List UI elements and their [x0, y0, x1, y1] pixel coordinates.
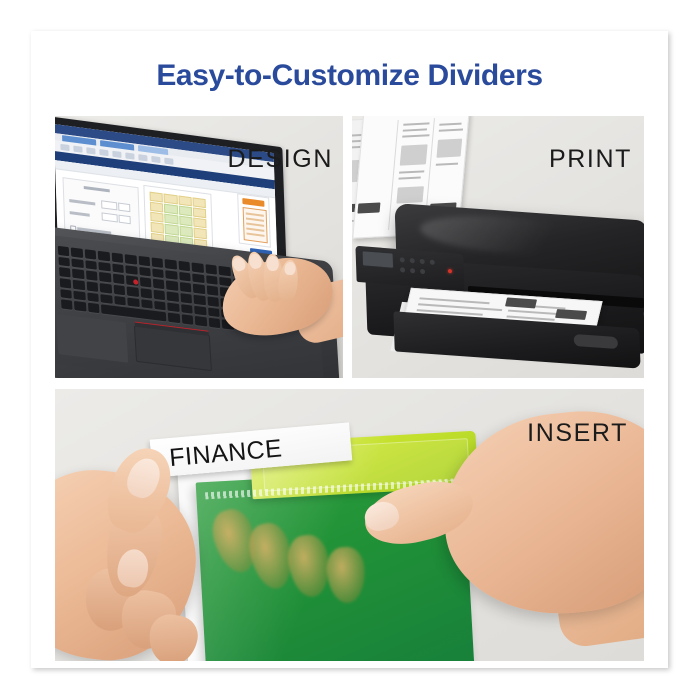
- form-label: [69, 199, 95, 205]
- panel-print: PRINT: [352, 116, 644, 378]
- panel-insert: FINANCE INSERT: [55, 389, 644, 661]
- trackpoint-nub: [133, 279, 138, 285]
- power-led-icon: [448, 269, 452, 273]
- page-title: Easy-to-Customize Dividers: [31, 59, 668, 93]
- thumbnail-document: [243, 207, 268, 243]
- hand-left-inserting: [55, 419, 275, 661]
- printer-button[interactable]: [420, 269, 425, 274]
- form-input: [102, 212, 118, 222]
- panel-label-insert: INSERT: [527, 419, 628, 448]
- panel-label-print: PRINT: [549, 145, 632, 174]
- form-input: [101, 200, 117, 210]
- thumbnail-header: [242, 198, 264, 207]
- printer-button[interactable]: [400, 257, 405, 262]
- printer-button[interactable]: [410, 258, 415, 263]
- tray-handle: [574, 334, 618, 349]
- template-thumbnail-panel: [237, 193, 271, 247]
- page-background: Easy-to-Customize Dividers: [0, 0, 700, 700]
- form-input: [119, 215, 131, 225]
- palm-rest: [56, 314, 128, 363]
- form-heading: [84, 186, 110, 192]
- printer-button[interactable]: [430, 260, 435, 265]
- form-label: [70, 211, 90, 217]
- printer-button[interactable]: [420, 259, 425, 264]
- hand-typing: [195, 254, 343, 358]
- panel-label-design: DESIGN: [228, 145, 333, 174]
- printer-button[interactable]: [400, 267, 405, 272]
- printer-lcd-display: [362, 250, 395, 269]
- printer-button[interactable]: [410, 268, 415, 273]
- form-input: [118, 203, 130, 213]
- product-card: Easy-to-Customize Dividers: [31, 31, 668, 668]
- panel-design: DESIGN: [55, 116, 343, 378]
